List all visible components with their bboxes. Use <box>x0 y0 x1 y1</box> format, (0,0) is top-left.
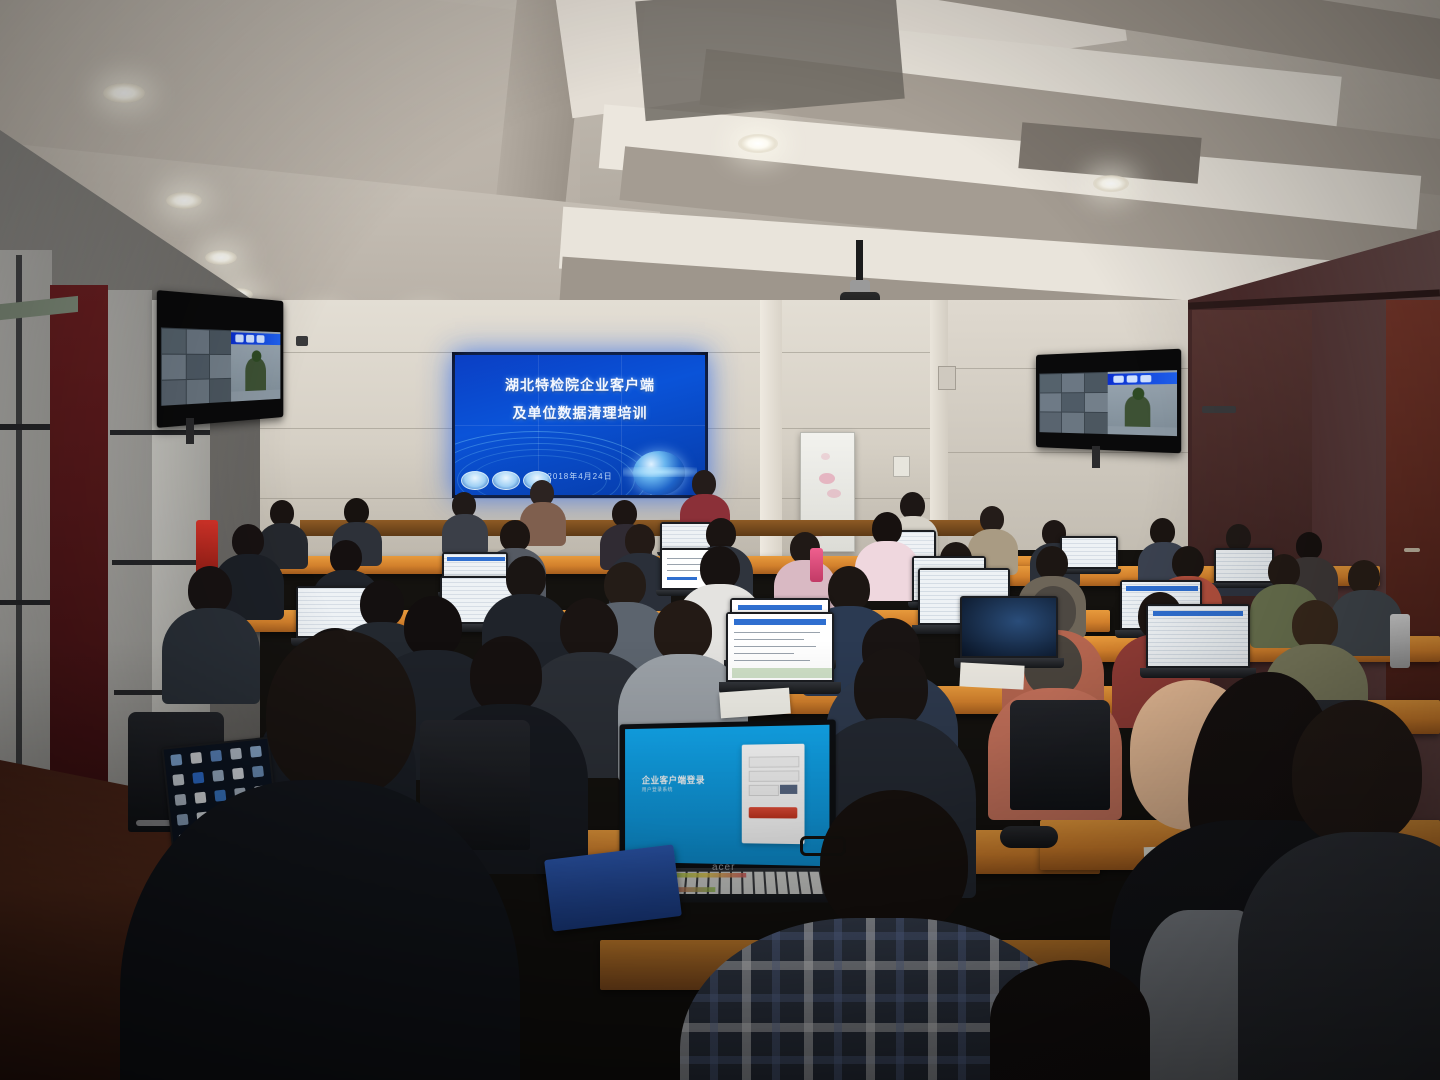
right-wall-handle-icon[interactable] <box>1404 548 1420 552</box>
thermos-flask <box>1390 614 1410 668</box>
led-wall-frame: 湖北特检院企业客户端 及单位数据清理培训 2018年4月24日 <box>452 352 708 498</box>
left-monitor-bracket <box>186 418 194 444</box>
right-wall-monitor[interactable] <box>1036 349 1181 454</box>
downlight-icon <box>738 134 778 153</box>
left-monitor-pole <box>296 336 308 346</box>
slide-title-line2: 及单位数据清理培训 <box>455 405 705 421</box>
left-wall-trim <box>112 560 152 565</box>
left-wall-trim <box>16 255 22 795</box>
badge-logo-1 <box>461 471 489 490</box>
left-wall-trim <box>110 430 152 435</box>
chair <box>1010 700 1110 810</box>
captcha-image[interactable] <box>780 785 797 794</box>
downlight-icon <box>205 250 237 265</box>
left-wall-trim <box>0 600 52 605</box>
light-switch-plate[interactable] <box>893 456 910 477</box>
downlight-icon <box>103 83 145 103</box>
mouse[interactable] <box>1000 826 1058 848</box>
left-wall-panel <box>0 250 52 810</box>
laptop[interactable] <box>1214 548 1274 588</box>
slide-title-line1: 湖北特检院企业客户端 <box>455 377 705 393</box>
wall-speaker <box>938 366 956 390</box>
login-app-title: 企业客户端登录 <box>642 773 705 786</box>
login-app-subtitle: 用户登录系统 <box>642 786 673 793</box>
downlight-icon <box>1093 175 1129 192</box>
wall-pilaster <box>930 300 948 530</box>
right-monitor-pole <box>1202 406 1236 413</box>
left-wall-trim <box>0 424 52 430</box>
wall-seam <box>948 452 1188 453</box>
login-submit-button[interactable] <box>749 807 798 818</box>
left-wall-monitor[interactable] <box>157 290 284 428</box>
paper-stack <box>719 688 791 719</box>
photo-scene: 湖北特检院企业客户端 及单位数据清理培训 2018年4月24日 <box>0 0 1440 1080</box>
acer-logo: acer <box>712 862 735 873</box>
login-card <box>742 744 805 844</box>
badge-logo-2 <box>492 471 520 490</box>
laptop[interactable] <box>1146 604 1250 678</box>
username-field[interactable] <box>749 756 800 768</box>
wall-seam <box>250 498 1010 499</box>
globe-base-glow <box>623 467 697 477</box>
laptop[interactable] <box>1060 536 1118 574</box>
left-door[interactable] <box>50 285 108 815</box>
laptop[interactable] <box>726 612 834 694</box>
password-field[interactable] <box>749 770 800 781</box>
left-wall-trim <box>114 690 152 695</box>
glasses-icon <box>800 836 846 856</box>
captcha-field[interactable] <box>749 785 779 796</box>
paper-stack <box>959 662 1024 689</box>
laptop[interactable] <box>960 596 1058 668</box>
downlight-icon <box>166 192 202 209</box>
left-column-trim <box>152 430 210 435</box>
pink-water-bottle <box>810 548 823 582</box>
led-video-wall[interactable]: 湖北特检院企业客户端 及单位数据清理培训 2018年4月24日 <box>455 355 705 495</box>
right-monitor-bracket <box>1092 446 1100 468</box>
